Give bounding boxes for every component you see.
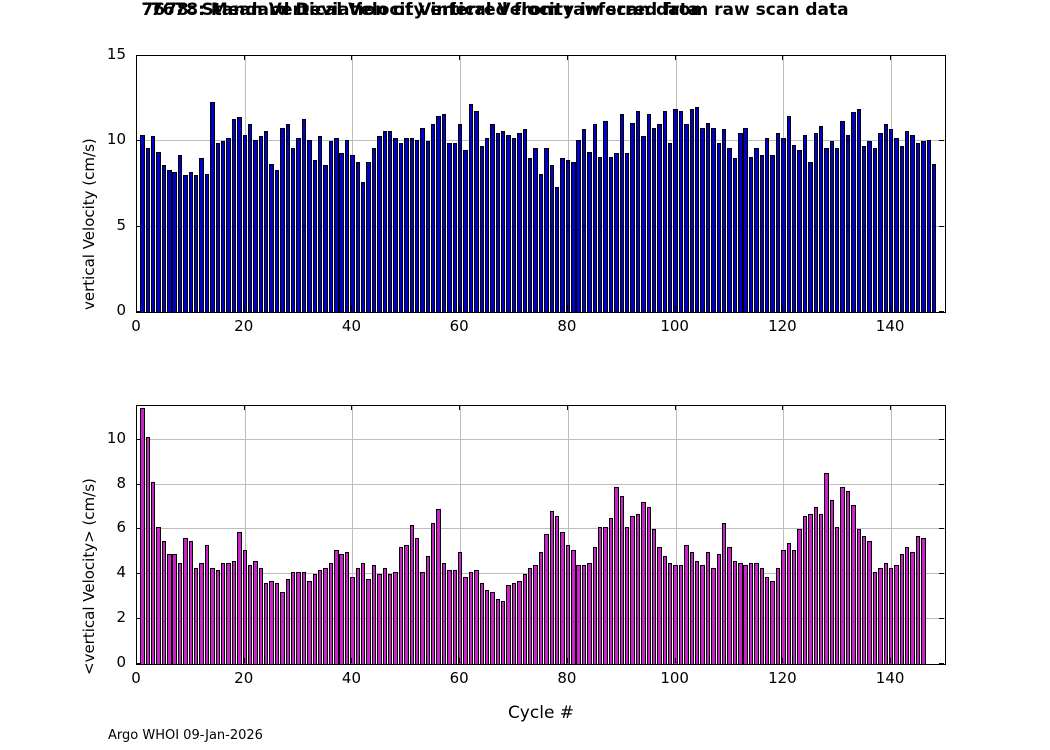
bar [243, 135, 247, 312]
bar [313, 160, 317, 312]
bar [496, 133, 500, 312]
bar [695, 107, 699, 312]
y-tick-mark [939, 226, 944, 227]
y-tick-label: 6 [84, 518, 126, 536]
bar [620, 496, 624, 664]
bar [582, 565, 586, 664]
bar [490, 592, 494, 664]
bar [506, 135, 510, 312]
bar [226, 563, 230, 664]
y-tick-mark [939, 311, 944, 312]
bar [372, 565, 376, 664]
bar [361, 182, 365, 312]
bar [313, 574, 317, 664]
y-tick-label: 15 [84, 45, 126, 63]
bar [846, 491, 850, 664]
bar [463, 150, 467, 312]
bar [830, 500, 834, 664]
bar [921, 141, 925, 312]
bar [625, 527, 629, 664]
bar [458, 124, 462, 312]
bar [151, 482, 155, 664]
bar [539, 552, 543, 664]
x-tick-mark [675, 55, 676, 60]
bar [566, 545, 570, 664]
x-tick-mark [890, 306, 891, 311]
bar [630, 516, 634, 664]
bar [555, 516, 559, 664]
bar [485, 138, 489, 312]
x-tick-mark [244, 658, 245, 663]
bar [797, 529, 801, 664]
bar [151, 136, 155, 312]
bar [442, 114, 446, 312]
bar [840, 121, 844, 312]
bar [329, 141, 333, 312]
bar [334, 550, 338, 664]
bar [814, 507, 818, 664]
bar [657, 547, 661, 664]
y-tick-mark [136, 226, 141, 227]
bar [862, 536, 866, 664]
bar [743, 128, 747, 312]
bar [684, 124, 688, 312]
bar [415, 140, 419, 312]
y-tick-mark [136, 439, 141, 440]
bar [269, 581, 273, 664]
bar [275, 583, 279, 664]
bar [776, 133, 780, 312]
bar [684, 545, 688, 664]
x-tick-label: 140 [860, 669, 920, 687]
bar [668, 563, 672, 664]
bar [410, 138, 414, 312]
x-tick-mark [351, 405, 352, 410]
bar [162, 165, 166, 312]
bar [248, 124, 252, 312]
bar [641, 136, 645, 312]
bar [760, 155, 764, 312]
bar [878, 133, 882, 312]
bar [830, 141, 834, 312]
bar [156, 527, 160, 664]
bar [156, 152, 160, 312]
bar [248, 565, 252, 664]
x-tick-mark [459, 405, 460, 410]
bar [921, 538, 925, 664]
bar [840, 487, 844, 664]
bar [910, 135, 914, 312]
bar [178, 563, 182, 664]
bar [501, 131, 505, 312]
bar [302, 572, 306, 664]
x-tick-mark [782, 306, 783, 311]
bar [199, 563, 203, 664]
bar [576, 565, 580, 664]
bar [824, 148, 828, 312]
x-tick-mark [459, 55, 460, 60]
bar [259, 568, 263, 664]
bar [512, 138, 516, 312]
bar [900, 554, 904, 664]
bar [560, 158, 564, 312]
x-tick-label: 100 [645, 669, 705, 687]
bar [787, 116, 791, 312]
x-tick-label: 80 [537, 317, 597, 335]
bar [178, 155, 182, 312]
y-tick-label: 2 [84, 608, 126, 626]
bar [264, 583, 268, 664]
bar [232, 119, 236, 312]
x-tick-mark [567, 306, 568, 311]
bar [162, 541, 166, 664]
bar [280, 592, 284, 664]
bar [480, 583, 484, 664]
bar [259, 136, 263, 312]
bar [717, 554, 721, 664]
y-tick-mark [136, 140, 141, 141]
bar [183, 175, 187, 312]
bar [776, 568, 780, 664]
bar [544, 148, 548, 312]
bar [302, 119, 306, 312]
bar [603, 527, 607, 664]
bar [814, 133, 818, 312]
x-tick-mark [136, 658, 137, 663]
x-tick-mark [890, 55, 891, 60]
bar [550, 165, 554, 312]
bar [469, 104, 473, 312]
bar [587, 152, 591, 312]
bar [286, 579, 290, 664]
x-tick-label: 20 [214, 669, 274, 687]
bar [366, 162, 370, 312]
bar [894, 138, 898, 312]
x-tick-mark [351, 306, 352, 311]
bar [194, 568, 198, 664]
bar [609, 157, 613, 312]
bar [636, 111, 640, 312]
bar [851, 112, 855, 312]
bar [803, 135, 807, 312]
bar [770, 581, 774, 664]
bar [275, 170, 279, 312]
bar [717, 143, 721, 312]
bar [485, 590, 489, 664]
bar [264, 131, 268, 312]
bar [765, 138, 769, 312]
bar [690, 109, 694, 312]
bar [296, 572, 300, 664]
bar [517, 133, 521, 312]
x-tick-mark [675, 306, 676, 311]
bar [286, 124, 290, 312]
bar [765, 577, 769, 664]
x-tick-mark [567, 658, 568, 663]
y-tick-mark [136, 311, 141, 312]
bar [706, 123, 710, 312]
bar [657, 124, 661, 312]
x-tick-mark [782, 658, 783, 663]
y-tick-mark [136, 484, 141, 485]
bar [237, 117, 241, 312]
bar [296, 138, 300, 312]
bar [221, 563, 225, 664]
bar [339, 554, 343, 664]
bar [576, 140, 580, 312]
x-tick-mark [136, 306, 137, 311]
bar [663, 556, 667, 664]
bar [733, 158, 737, 312]
bar [894, 565, 898, 664]
bar [420, 128, 424, 312]
bar [388, 574, 392, 664]
bar [889, 568, 893, 664]
bar [641, 502, 645, 664]
bar [803, 516, 807, 664]
bar [393, 138, 397, 312]
bar [431, 124, 435, 312]
bar [878, 568, 882, 664]
x-tick-mark [567, 405, 568, 410]
y-tick-label: 10 [84, 130, 126, 148]
bar [253, 561, 257, 664]
x-tick-label: 60 [429, 669, 489, 687]
bar [797, 150, 801, 312]
y-tick-mark [136, 528, 141, 529]
y-tick-mark [939, 55, 944, 56]
bar [571, 550, 575, 664]
bar [442, 563, 446, 664]
y-tick-label: 4 [84, 563, 126, 581]
bar [824, 473, 828, 664]
bar [291, 572, 295, 664]
x-tick-mark [244, 55, 245, 60]
bar [243, 550, 247, 664]
bar [388, 131, 392, 312]
bar [711, 568, 715, 664]
bar [339, 153, 343, 312]
y-tick-mark [939, 140, 944, 141]
bar [226, 138, 230, 312]
bar [210, 102, 214, 312]
bar [329, 563, 333, 664]
bar [781, 550, 785, 664]
bar [399, 547, 403, 664]
bar [550, 511, 554, 664]
bar [205, 174, 209, 312]
bar [356, 568, 360, 664]
bar [447, 570, 451, 664]
bar [533, 565, 537, 664]
chart-title-stddev: 7678: Standard Deviation of Vertical Vel… [0, 0, 990, 20]
y-tick-mark [939, 484, 944, 485]
bar [754, 148, 758, 312]
bar [916, 536, 920, 664]
y-tick-mark [939, 618, 944, 619]
y-tick-label: 5 [84, 216, 126, 234]
bar [172, 172, 176, 312]
bar [307, 581, 311, 664]
bar [749, 563, 753, 664]
bar [835, 527, 839, 664]
bar [598, 157, 602, 312]
bar [873, 572, 877, 664]
bar [889, 129, 893, 312]
bar [383, 131, 387, 312]
y-tick-mark [939, 439, 944, 440]
bar [690, 552, 694, 664]
bar [700, 565, 704, 664]
bar [334, 138, 338, 312]
x-tick-label: 80 [537, 669, 597, 687]
bar [474, 570, 478, 664]
x-tick-label: 120 [752, 317, 812, 335]
bar [598, 527, 602, 664]
bar [647, 114, 651, 312]
bar [539, 174, 543, 312]
bar [377, 574, 381, 664]
bar [647, 507, 651, 664]
bar [318, 136, 322, 312]
bar [582, 129, 586, 312]
bar [146, 437, 150, 664]
bar [307, 140, 311, 312]
bar [884, 124, 888, 312]
bar [404, 138, 408, 312]
y-tick-label: 8 [84, 474, 126, 492]
bar [426, 141, 430, 312]
x-tick-mark [675, 658, 676, 663]
y-tick-mark [136, 618, 141, 619]
bar [345, 140, 349, 312]
bar [453, 570, 457, 664]
x-tick-label: 120 [752, 669, 812, 687]
bar [652, 128, 656, 312]
bar [620, 114, 624, 312]
bar [916, 143, 920, 312]
grid-line [137, 439, 945, 440]
bar [700, 128, 704, 312]
bar [835, 148, 839, 312]
x-tick-mark [890, 658, 891, 663]
bar [857, 109, 861, 312]
bar [733, 561, 737, 664]
bar [140, 408, 144, 664]
bar [544, 534, 548, 664]
bar [560, 532, 564, 664]
x-tick-mark [136, 405, 137, 410]
bar [528, 158, 532, 312]
bar [722, 523, 726, 664]
bar [205, 545, 209, 664]
bar [377, 136, 381, 312]
bar [216, 570, 220, 664]
bar [533, 148, 537, 312]
bar [269, 164, 273, 312]
x-tick-mark [136, 55, 137, 60]
bar [673, 109, 677, 312]
bar [436, 509, 440, 664]
bar [480, 146, 484, 312]
bar [727, 547, 731, 664]
y-tick-mark [939, 528, 944, 529]
bar [426, 556, 430, 664]
bar [361, 563, 365, 664]
x-tick-mark [244, 405, 245, 410]
bar [221, 141, 225, 312]
bar [927, 140, 931, 312]
bar [787, 543, 791, 664]
bar [463, 577, 467, 664]
bar [781, 138, 785, 312]
bar [722, 129, 726, 312]
bar [146, 148, 150, 312]
x-tick-label: 40 [321, 317, 381, 335]
y-tick-mark [136, 573, 141, 574]
bar [356, 162, 360, 312]
bar [630, 123, 634, 312]
bar [792, 145, 796, 312]
x-tick-label: 140 [860, 317, 920, 335]
x-tick-label: 0 [106, 317, 166, 335]
bar [808, 162, 812, 312]
bar [523, 574, 527, 664]
plot-area-stddev [136, 405, 946, 665]
bar [237, 532, 241, 664]
y-tick-mark [136, 663, 141, 664]
bar [167, 554, 171, 664]
bar [410, 525, 414, 664]
bar [614, 153, 618, 312]
x-tick-mark [244, 306, 245, 311]
x-tick-label: 60 [429, 317, 489, 335]
bar [663, 111, 667, 312]
bar [668, 143, 672, 312]
bar [808, 514, 812, 664]
bar [253, 140, 257, 312]
bar [910, 552, 914, 664]
bar [383, 568, 387, 664]
bar [523, 129, 527, 312]
bar [420, 572, 424, 664]
bar [528, 568, 532, 664]
x-tick-mark [782, 405, 783, 410]
bar [210, 568, 214, 664]
x-tick-label: 100 [645, 317, 705, 335]
bar [727, 148, 731, 312]
bar [512, 583, 516, 664]
stddev-velocity-panel: 7678: Standard Deviation of Vertical Vel… [0, 0, 990, 20]
bar [216, 143, 220, 312]
x-tick-mark [459, 658, 460, 663]
bar [189, 541, 193, 664]
bar [695, 561, 699, 664]
bar [490, 124, 494, 312]
bar [593, 124, 597, 312]
bar [706, 552, 710, 664]
bar [593, 547, 597, 664]
bar [366, 579, 370, 664]
bar [172, 554, 176, 664]
bar [345, 552, 349, 664]
bar [566, 160, 570, 312]
bar [199, 158, 203, 312]
bar [900, 146, 904, 312]
y-tick-mark [939, 573, 944, 574]
bar [652, 529, 656, 664]
bar [399, 143, 403, 312]
